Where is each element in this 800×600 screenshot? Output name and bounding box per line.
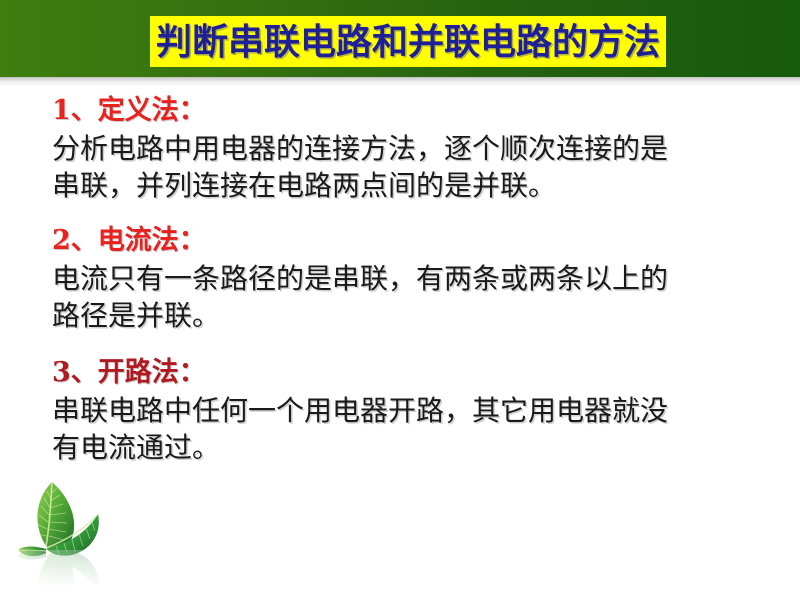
slide-content: 1、定义法： 分析电路中用电器的连接方法，逐个顺次连接的是 串联，并列连接在电路… — [0, 86, 800, 466]
section-body-2-line-2: 路径是并联。 — [52, 297, 790, 334]
section-heading-1: 1、定义法： — [52, 92, 790, 130]
section-body-2-line-1: 电流只有一条路径的是串联，有两条或两条以上的 — [52, 260, 790, 297]
header-drop-shadow — [0, 77, 800, 86]
leaf-decoration-icon — [6, 462, 136, 587]
section-body-2: 电流只有一条路径的是串联，有两条或两条以上的 路径是并联。 — [52, 260, 790, 334]
section-heading-2: 2、电流法： — [52, 222, 790, 260]
section-definition-method: 1、定义法： 分析电路中用电器的连接方法，逐个顺次连接的是 串联，并列连接在电路… — [0, 92, 800, 204]
section-body-3: 串联电路中任何一个用电器开路，其它用电器就没 有电流通过。 — [52, 392, 790, 466]
section-current-method: 2、电流法： 电流只有一条路径的是串联，有两条或两条以上的 路径是并联。 — [0, 222, 800, 334]
title-highlight-box: 判断串联电路和并联电路的方法 — [150, 16, 666, 67]
section-body-3-line-1: 串联电路中任何一个用电器开路，其它用电器就没 — [52, 392, 790, 429]
leaf-shape-small — [18, 547, 46, 557]
section-body-1-line-1: 分析电路中用电器的连接方法，逐个顺次连接的是 — [52, 130, 790, 167]
section-body-1: 分析电路中用电器的连接方法，逐个顺次连接的是 串联，并列连接在电路两点间的是并联… — [52, 130, 790, 204]
section-body-3-line-2: 有电流通过。 — [52, 429, 790, 466]
section-open-circuit-method: 3、开路法： 串联电路中任何一个用电器开路，其它用电器就没 有电流通过。 — [0, 354, 800, 466]
leaf-shape-main — [37, 482, 74, 549]
section-body-1-line-2: 串联，并列连接在电路两点间的是并联。 — [52, 167, 790, 204]
leaf-reflection — [6, 550, 136, 587]
leaf-shape-right — [46, 514, 99, 556]
page-title: 判断串联电路和并联电路的方法 — [156, 24, 660, 60]
section-heading-3: 3、开路法： — [52, 354, 790, 392]
